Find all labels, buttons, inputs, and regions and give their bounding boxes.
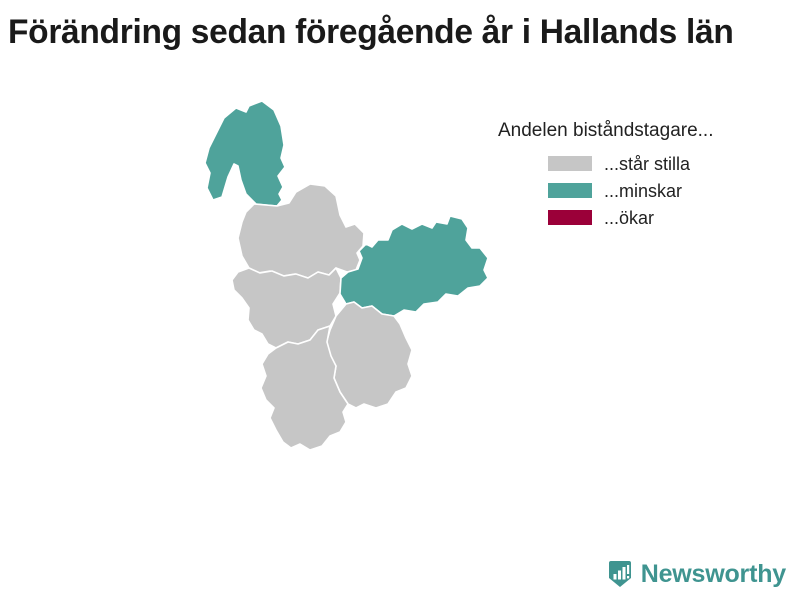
legend: Andelen biståndstagare... ...står stilla… [498, 118, 788, 231]
legend-title: Andelen biståndstagare... [498, 118, 788, 144]
legend-label-increasing: ...ökar [604, 207, 654, 229]
newsworthy-wordmark: Newsworthy [641, 560, 786, 588]
map-region-kungsbacka[interactable] [205, 101, 285, 206]
legend-swatch-increasing [548, 210, 592, 225]
legend-swatch-unchanged [548, 156, 592, 171]
newsworthy-logo[interactable]: Newsworthy [607, 560, 786, 588]
legend-item-unchanged[interactable]: ...står stilla [548, 150, 788, 177]
legend-label-decreasing: ...minskar [604, 180, 682, 202]
legend-label-unchanged: ...står stilla [604, 153, 690, 175]
bar-chart-badge-icon [607, 560, 633, 588]
legend-items: ...står stilla ...minskar ...ökar [498, 150, 788, 231]
choropleth-map [150, 72, 530, 512]
legend-item-increasing[interactable]: ...ökar [548, 204, 788, 231]
map-svg [150, 72, 530, 512]
legend-item-decreasing[interactable]: ...minskar [548, 177, 788, 204]
legend-swatch-decreasing [548, 183, 592, 198]
page-title: Förändring sedan föregående år i Halland… [8, 10, 780, 54]
footer: Newsworthy [0, 556, 800, 600]
map-page: Förändring sedan föregående år i Halland… [0, 0, 800, 600]
